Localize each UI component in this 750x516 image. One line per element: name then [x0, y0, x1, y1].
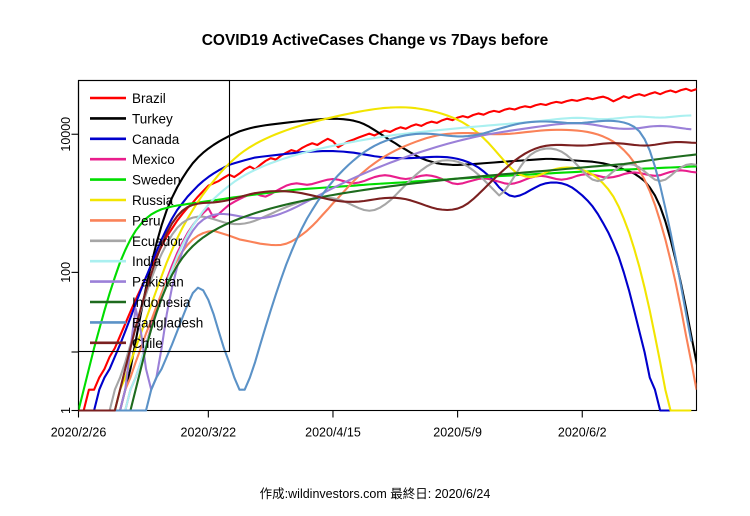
legend-label-chile: Chile	[132, 336, 163, 351]
legend-label-turkey: Turkey	[132, 111, 173, 126]
legend-label-ecuador: Ecuador	[132, 234, 183, 249]
x-tick-label: 2020/4/15	[305, 426, 361, 440]
legend-label-pakistan: Pakistan	[132, 275, 184, 290]
x-tick-label: 2020/6/2	[558, 426, 607, 440]
legend-label-indonesia: Indonesia	[132, 295, 191, 310]
legend-label-mexico: Mexico	[132, 152, 175, 167]
x-axis: 2020/2/262020/3/222020/4/152020/5/92020/…	[51, 411, 697, 440]
y-tick-label: 1	[59, 407, 73, 414]
legend-label-bangladesh: Bangladesh	[132, 315, 203, 330]
legend-label-peru: Peru	[132, 213, 161, 228]
legend-label-sweden: Sweden	[132, 173, 181, 188]
y-tick-label: 100	[59, 262, 73, 283]
legend-label-russia: Russia	[132, 193, 174, 208]
x-tick-label: 2020/5/9	[433, 426, 482, 440]
legend-label-canada: Canada	[132, 132, 180, 147]
y-tick-label: 10000	[59, 117, 73, 152]
footer-credit: 作成:wildinvestors.com 最終日: 2020/6/24	[260, 486, 491, 501]
y-axis: 110010000	[59, 83, 79, 414]
x-tick-label: 2020/3/22	[181, 426, 237, 440]
covid-active-cases-line-chart: COVID19 ActiveCases Change vs 7Days befo…	[0, 0, 750, 511]
chart-container: COVID19 ActiveCases Change vs 7Days befo…	[0, 0, 750, 511]
legend-label-india: India	[132, 254, 162, 269]
legend-label-brazil: Brazil	[132, 91, 166, 106]
page-title: COVID19 ActiveCases Change vs 7Days befo…	[202, 32, 549, 49]
x-tick-label: 2020/2/26	[51, 426, 107, 440]
